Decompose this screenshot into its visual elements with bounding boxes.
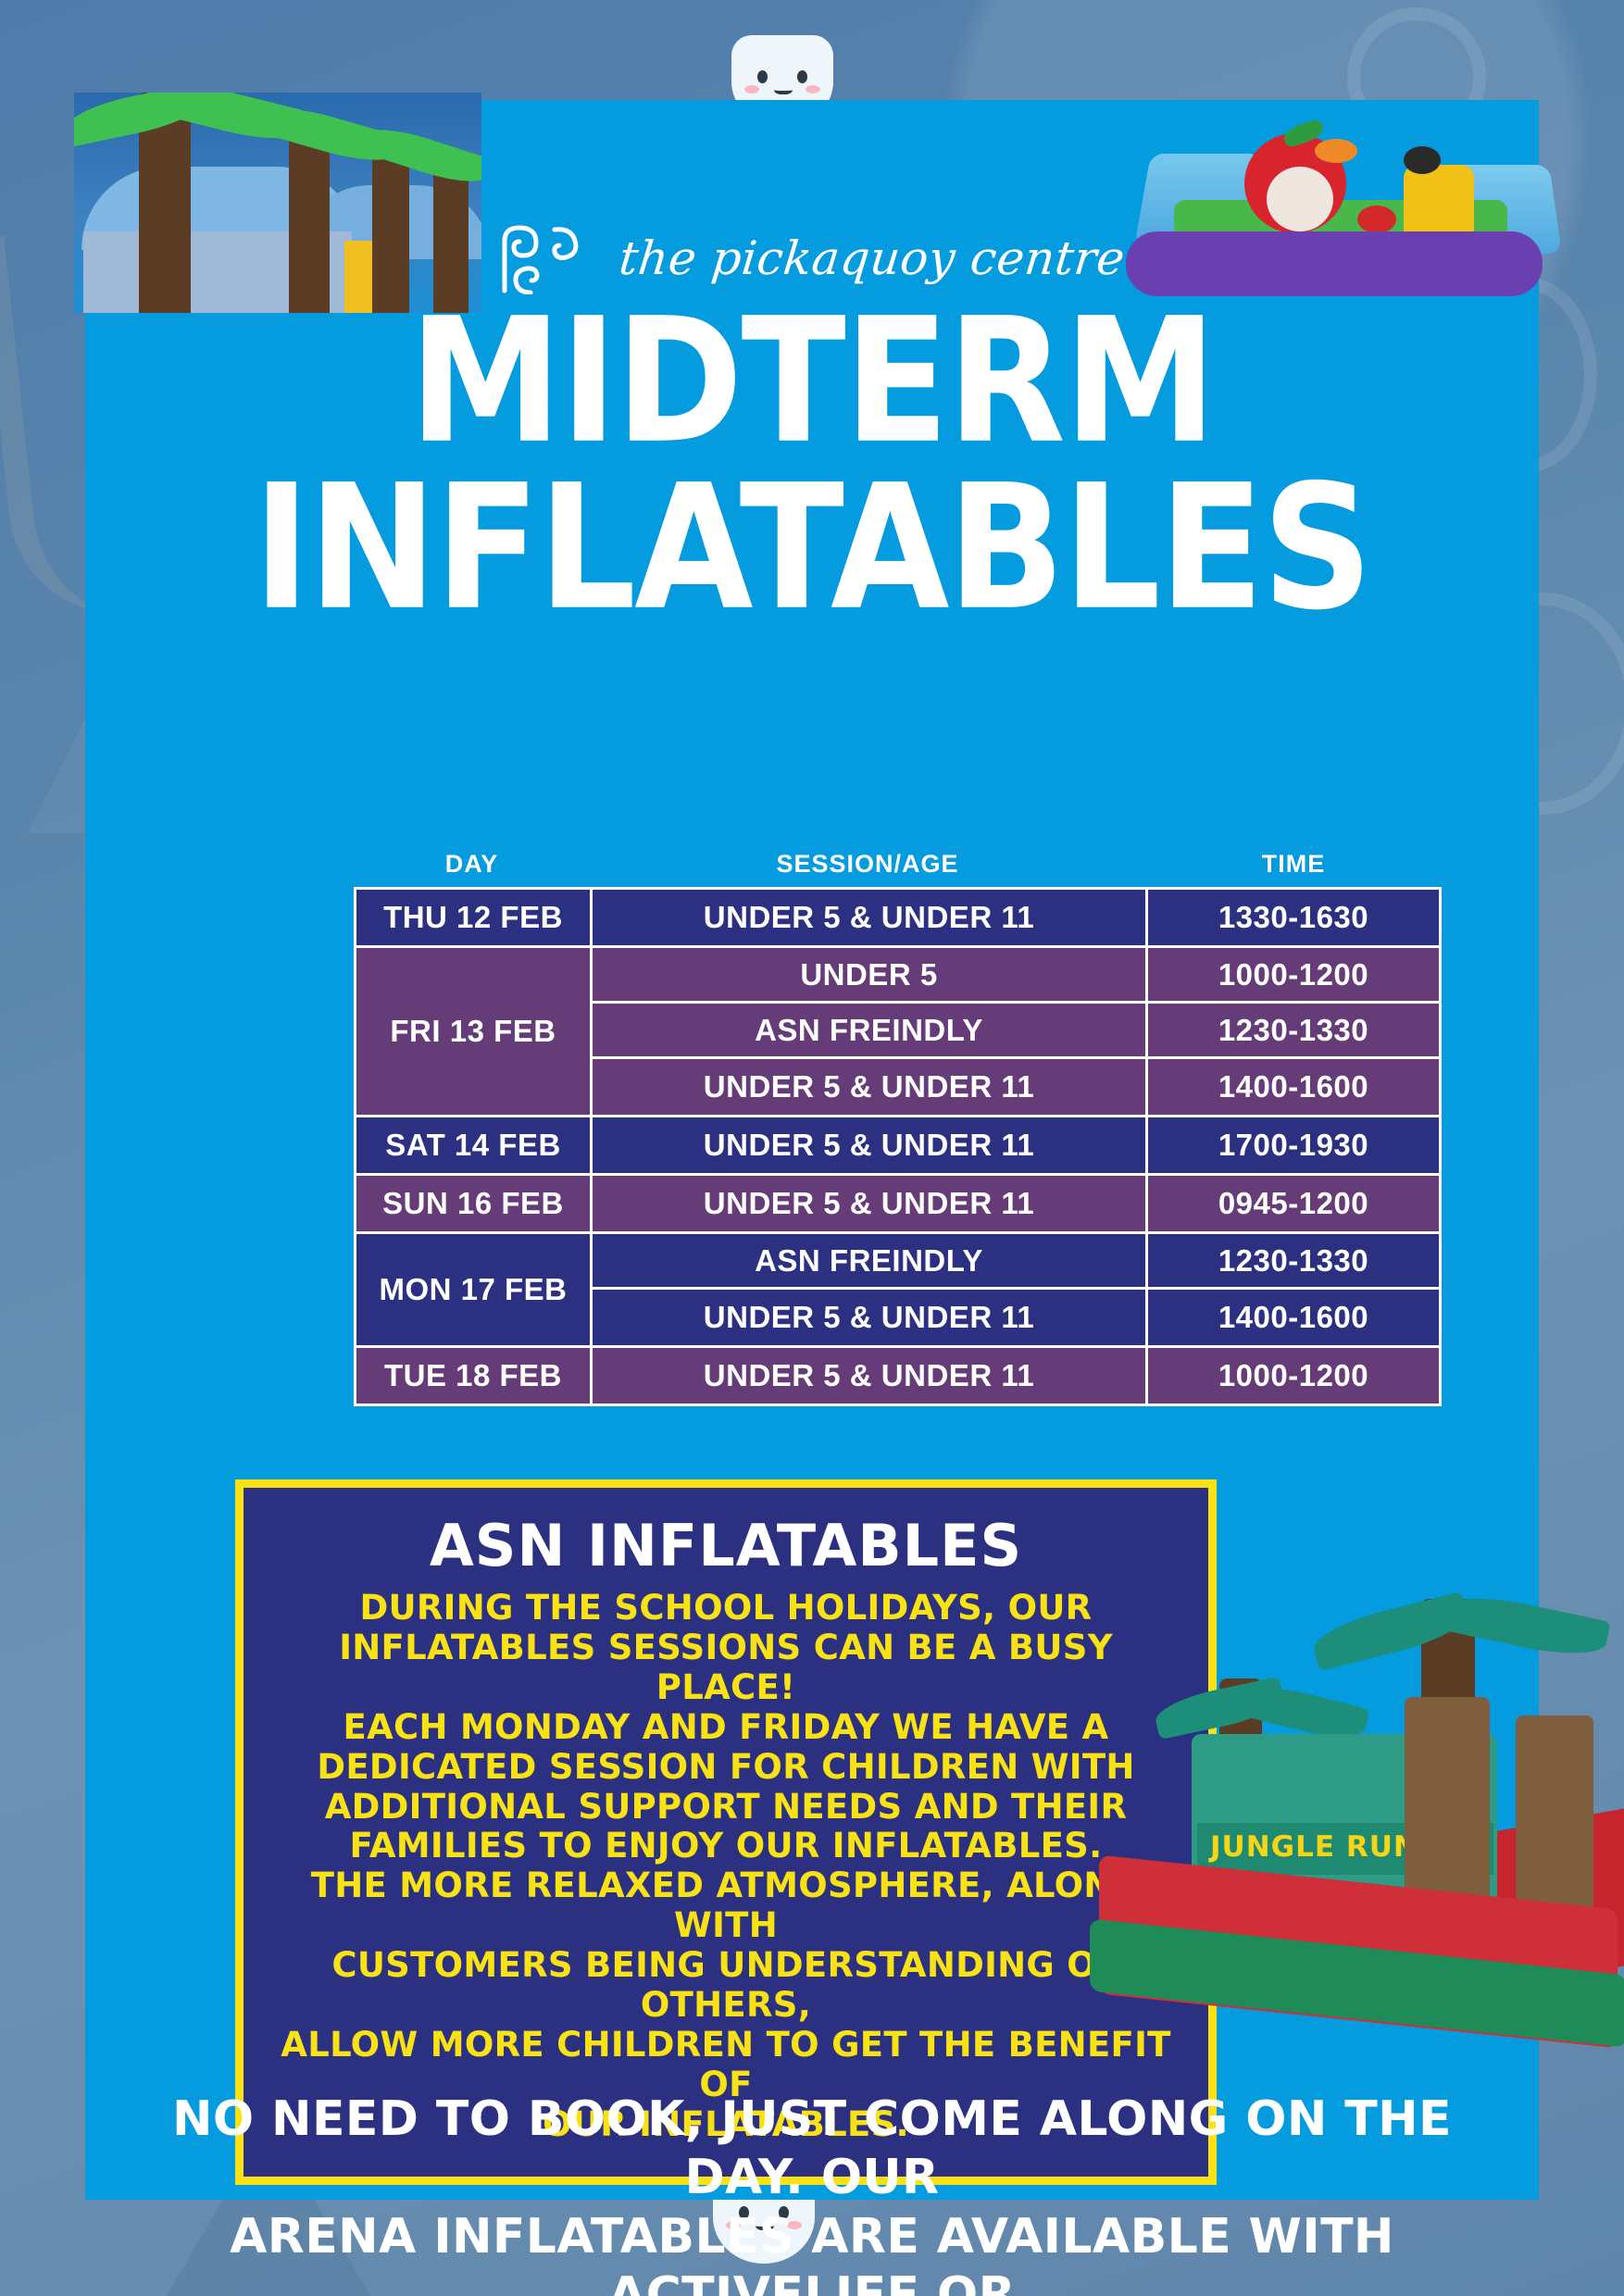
brand-logo-wordmark: the pickaquoy centre	[617, 231, 1128, 285]
schedule-session-row: UNDER 51000-1200	[593, 948, 1439, 1004]
title-line-1: MIDTERM	[85, 306, 1539, 458]
schedule-session-row: UNDER 5 & UNDER 111700-1930	[593, 1117, 1439, 1173]
schedule-time-cell: 0945-1200	[1148, 1176, 1439, 1231]
schedule-table: DAY SESSION/AGE TIME THU 12 FEBUNDER 5 &…	[354, 850, 1442, 1406]
asn-text-line: INFLATABLES SESSIONS CAN BE A BUSY PLACE…	[281, 1628, 1171, 1708]
footer-text-line: ARENA INFLATABLES ARE AVAILABLE WITH ACT…	[150, 2208, 1474, 2296]
schedule-session-row: UNDER 5 & UNDER 110945-1200	[593, 1176, 1439, 1231]
schedule-session-group: UNDER 5 & UNDER 111700-1930	[593, 1117, 1439, 1173]
schedule-session-cell: UNDER 5 & UNDER 11	[593, 890, 1148, 945]
schedule-day-cell: MON 17 FEB	[356, 1234, 593, 1345]
footer-text-line: NO NEED TO BOOK, JUST COME ALONG ON THE …	[150, 2090, 1474, 2208]
schedule-session-group: ASN FREINDLY1230-1330UNDER 5 & UNDER 111…	[593, 1234, 1439, 1345]
schedule-time-cell: 1700-1930	[1148, 1117, 1439, 1173]
schedule-session-group: UNDER 5 & UNDER 111330-1630	[593, 890, 1439, 945]
schedule-session-cell: UNDER 5 & UNDER 11	[593, 1176, 1148, 1231]
schedule-body: THU 12 FEBUNDER 5 & UNDER 111330-1630FRI…	[354, 887, 1442, 1406]
schedule-session-group: UNDER 51000-1200ASN FREINDLY1230-1330UND…	[593, 948, 1439, 1115]
schedule-session-cell: UNDER 5 & UNDER 11	[593, 1348, 1148, 1404]
schedule-header-row: DAY SESSION/AGE TIME	[354, 850, 1442, 887]
asn-heading: ASN INFLATABLES	[281, 1512, 1171, 1579]
schedule-session-group: UNDER 5 & UNDER 110945-1200	[593, 1176, 1439, 1231]
asn-text-line: EACH MONDAY AND FRIDAY WE HAVE A	[281, 1708, 1171, 1748]
table-row: THU 12 FEBUNDER 5 & UNDER 111330-1630	[356, 890, 1439, 948]
asn-text-line: ADDITIONAL SUPPORT NEEDS AND THEIR	[281, 1788, 1171, 1828]
title-line-2: INFLATABLES	[85, 473, 1539, 625]
schedule-session-group: UNDER 5 & UNDER 111000-1200	[593, 1348, 1439, 1404]
table-row: MON 17 FEBASN FREINDLY1230-1330UNDER 5 &…	[356, 1234, 1439, 1348]
asn-text-line: FAMILIES TO ENJOY OUR INFLATABLES.	[281, 1827, 1171, 1866]
schedule-day-cell: FRI 13 FEB	[356, 948, 593, 1115]
schedule-session-row: UNDER 5 & UNDER 111400-1600	[593, 1059, 1439, 1115]
jungle-run-inflatable-photo: JUNGLE RUN	[1081, 1577, 1624, 2067]
schedule-time-cell: 1400-1600	[1148, 1059, 1439, 1115]
table-row: FRI 13 FEBUNDER 51000-1200ASN FREINDLY12…	[356, 948, 1439, 1117]
schedule-time-cell: 1230-1330	[1148, 1234, 1439, 1287]
schedule-session-row: UNDER 5 & UNDER 111400-1600	[593, 1290, 1439, 1345]
asn-text-line: DURING THE SCHOOL HOLIDAYS, OUR	[281, 1589, 1171, 1628]
schedule-session-cell: ASN FREINDLY	[593, 1004, 1148, 1056]
schedule-time-cell: 1230-1330	[1148, 1004, 1439, 1056]
poster-panel: the pickaquoy centre MIDTERM INFLATABLES…	[85, 100, 1539, 2200]
asn-text-line: THE MORE RELAXED ATMOSPHERE, ALONG WITH	[281, 1866, 1171, 1946]
schedule-session-row: ASN FREINDLY1230-1330	[593, 1234, 1439, 1290]
schedule-session-cell: UNDER 5 & UNDER 11	[593, 1290, 1148, 1345]
schedule-time-cell: 1000-1200	[1148, 948, 1439, 1001]
schedule-session-cell: UNDER 5 & UNDER 11	[593, 1117, 1148, 1173]
schedule-session-cell: UNDER 5	[593, 948, 1148, 1001]
schedule-day-cell: SAT 14 FEB	[356, 1117, 593, 1173]
page-title: MIDTERM INFLATABLES	[85, 315, 1539, 617]
table-row: SAT 14 FEBUNDER 5 & UNDER 111700-1930	[356, 1117, 1439, 1176]
schedule-time-cell: 1400-1600	[1148, 1290, 1439, 1345]
schedule-time-cell: 1000-1200	[1148, 1348, 1439, 1404]
schedule-session-row: ASN FREINDLY1230-1330	[593, 1004, 1439, 1059]
footer-note: NO NEED TO BOOK, JUST COME ALONG ON THE …	[150, 2090, 1474, 2296]
schedule-day-cell: TUE 18 FEB	[356, 1348, 593, 1404]
asn-info-box: ASN INFLATABLES DURING THE SCHOOL HOLIDA…	[235, 1479, 1217, 2185]
table-row: TUE 18 FEBUNDER 5 & UNDER 111000-1200	[356, 1348, 1439, 1404]
schedule-session-row: UNDER 5 & UNDER 111000-1200	[593, 1348, 1439, 1404]
schedule-day-cell: THU 12 FEB	[356, 890, 593, 945]
schedule-time-cell: 1330-1630	[1148, 890, 1439, 945]
asn-text-line: DEDICATED SESSION FOR CHILDREN WITH	[281, 1748, 1171, 1788]
schedule-session-cell: ASN FREINDLY	[593, 1234, 1148, 1287]
column-header-day: DAY	[354, 850, 590, 879]
schedule-session-cell: UNDER 5 & UNDER 11	[593, 1059, 1148, 1115]
column-header-time: TIME	[1145, 850, 1442, 879]
asn-body-text: DURING THE SCHOOL HOLIDAYS, OURINFLATABL…	[281, 1589, 1171, 2145]
asn-text-line: CUSTOMERS BEING UNDERSTANDING OF OTHERS,	[281, 1946, 1171, 2026]
poster-root: the pickaquoy centre MIDTERM INFLATABLES…	[0, 0, 1624, 2296]
schedule-day-cell: SUN 16 FEB	[356, 1176, 593, 1231]
column-header-session: SESSION/AGE	[590, 850, 1145, 879]
schedule-session-row: UNDER 5 & UNDER 111330-1630	[593, 890, 1439, 945]
table-row: SUN 16 FEBUNDER 5 & UNDER 110945-1200	[356, 1176, 1439, 1234]
